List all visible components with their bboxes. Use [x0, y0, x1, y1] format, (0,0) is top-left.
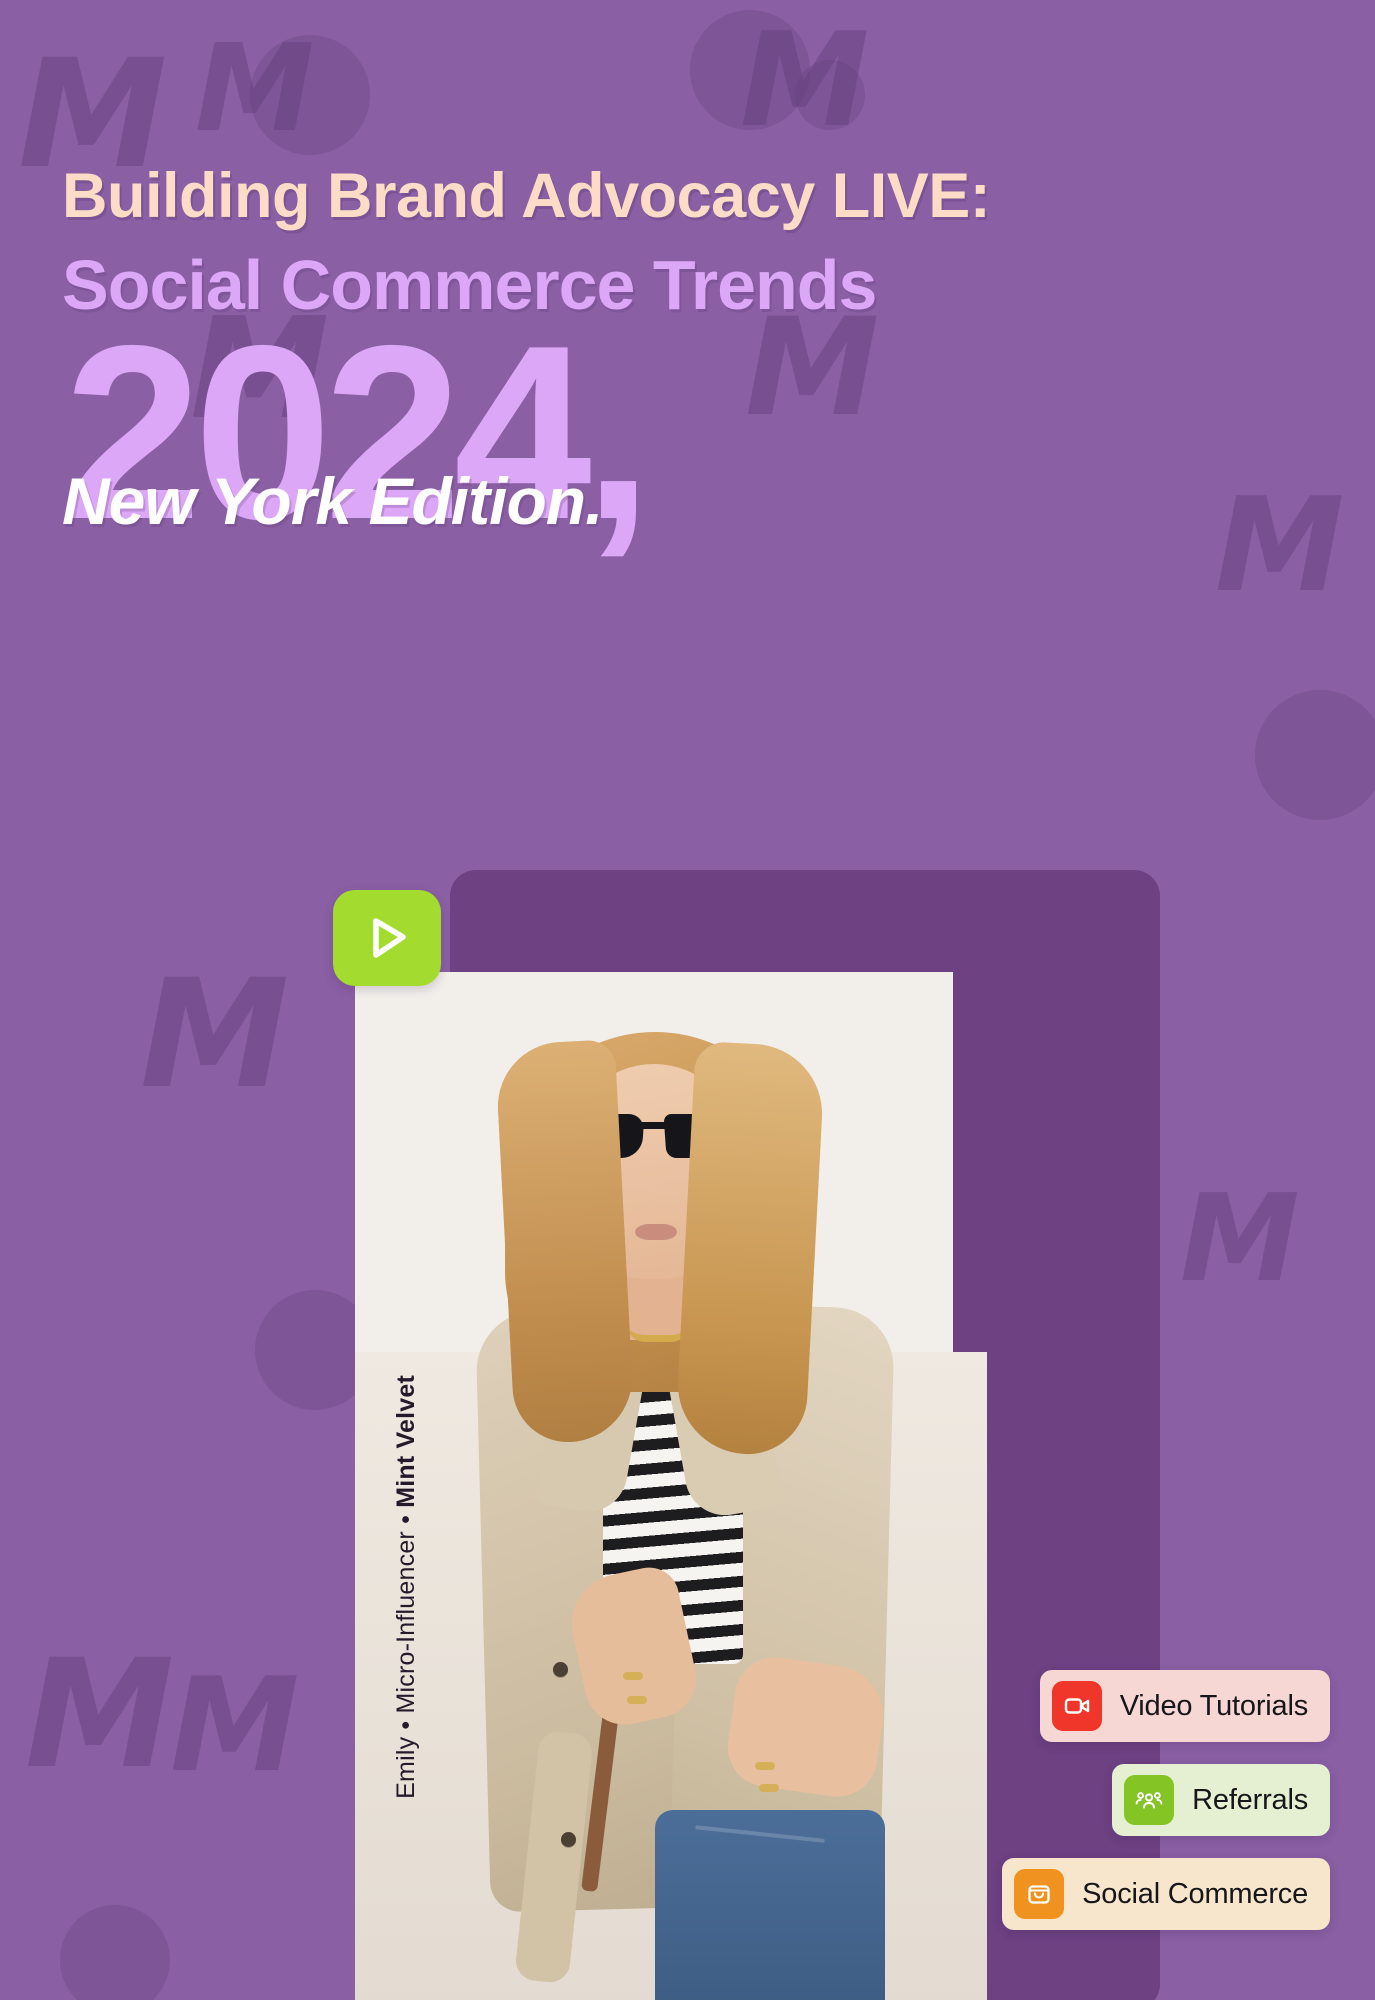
ring — [627, 1696, 647, 1704]
feature-badge-list: Video Tutorials Referrals — [690, 1648, 1330, 1930]
badge-label: Social Commerce — [1082, 1878, 1308, 1911]
badge-referrals[interactable]: Referrals — [1112, 1764, 1330, 1836]
headline-year-group: 2024, New York Edition. — [62, 326, 1322, 576]
watermark-logo-icon: M — [195, 30, 314, 150]
decorative-blob — [1255, 690, 1375, 820]
lips — [635, 1224, 677, 1240]
caption-text: Emily • Micro-Influencer • Mint Velvet — [392, 1375, 420, 1799]
play-button[interactable] — [333, 890, 441, 986]
badge-label: Video Tutorials — [1120, 1690, 1308, 1723]
headline-block: Building Brand Advocacy LIVE: Social Com… — [62, 165, 1322, 576]
hair-front-left — [495, 1039, 636, 1445]
decorative-blob — [60, 1905, 170, 2000]
promo-poster: M M M M M M M M M M Building Brand Advoc… — [0, 0, 1375, 2000]
headline-line-1: Building Brand Advocacy LIVE: — [62, 165, 1322, 228]
video-camera-icon — [1052, 1681, 1102, 1731]
decorative-blob — [795, 60, 865, 130]
badge-label: Referrals — [1192, 1784, 1308, 1817]
coat-button — [553, 1662, 568, 1677]
play-triangle-icon — [359, 910, 415, 966]
influencer-caption: Emily • Micro-Influencer • Mint Velvet — [392, 1375, 421, 1799]
coat-button — [561, 1832, 576, 1847]
watermark-logo-icon: M — [25, 1640, 174, 1790]
watermark-logo-icon: M — [740, 15, 869, 145]
people-group-icon — [1124, 1775, 1174, 1825]
ring — [623, 1672, 643, 1680]
decorative-blob — [250, 35, 370, 155]
badge-social-commerce[interactable]: Social Commerce — [1002, 1858, 1330, 1930]
badge-video-tutorials[interactable]: Video Tutorials — [1040, 1670, 1330, 1742]
headline-city: New York Edition. — [62, 468, 602, 534]
watermark-logo-icon: M — [170, 1660, 299, 1790]
shopping-bag-icon — [1014, 1869, 1064, 1919]
watermark-logo-icon: M — [140, 960, 289, 1110]
decorative-blob — [690, 10, 810, 130]
hair-front-right — [674, 1041, 825, 1457]
